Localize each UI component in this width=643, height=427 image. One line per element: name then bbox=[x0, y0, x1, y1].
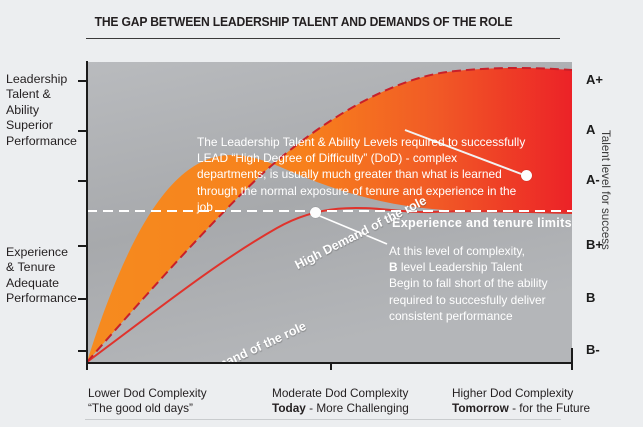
y-axis-label-superior: Leadership Talent & Ability Superior Per… bbox=[6, 72, 77, 149]
mid-line-1: At this level of complexity, bbox=[389, 244, 525, 258]
page-title: THE GAP BETWEEN LEADERSHIP TALENT AND DE… bbox=[85, 14, 522, 29]
mid-bold-grade: B bbox=[389, 260, 398, 274]
grade-label-a-minus: A- bbox=[586, 172, 600, 187]
mid-line-2: level Leadership Talent bbox=[398, 260, 523, 274]
tenure-limit-label: Experience and tenure limits bbox=[392, 216, 572, 230]
x-category-3-line1: Higher Dod Complexity bbox=[452, 386, 573, 400]
x-category-1-line1: Lower Dod Complexity bbox=[88, 386, 207, 400]
mid-line-4: required to succesfully deliver bbox=[389, 293, 546, 307]
x-category-3-bold: Tomorrow bbox=[452, 401, 509, 415]
x-tick-1 bbox=[86, 362, 88, 370]
y-tick-5 bbox=[78, 298, 87, 300]
y-axis-label-adequate: Experience & Tenure Adequate Performance bbox=[6, 245, 77, 307]
x-category-1: Lower Dod Complexity “The good old days” bbox=[88, 386, 207, 416]
y-axis-line bbox=[86, 61, 88, 363]
x-category-3: Higher Dod Complexity Tomorrow - for the… bbox=[452, 386, 590, 416]
grade-label-b-minus: B- bbox=[586, 342, 600, 357]
x-category-2-line2: - More Challenging bbox=[306, 401, 409, 415]
grade-label-a: A bbox=[586, 122, 595, 137]
top-description-text: The Leadership Talent & Ability Levels r… bbox=[197, 134, 527, 215]
chart-plot-area: The Leadership Talent & Ability Levels r… bbox=[87, 62, 572, 362]
mid-line-3: Begin to fall short of the ability bbox=[389, 276, 548, 290]
x-category-1-line2: “The good old days” bbox=[88, 401, 193, 415]
y-tick-6 bbox=[78, 350, 87, 352]
x-category-2-bold: Today bbox=[272, 401, 306, 415]
y-tick-4 bbox=[78, 245, 87, 247]
x-category-2-line1: Moderate Dod Complexity bbox=[272, 386, 408, 400]
grade-label-a-plus: A+ bbox=[586, 72, 603, 87]
title-divider bbox=[86, 38, 560, 39]
x-category-3-line2: - for the Future bbox=[509, 401, 590, 415]
grade-label-b: B bbox=[586, 290, 595, 305]
y-tick-3 bbox=[78, 180, 87, 182]
x-category-2: Moderate Dod Complexity Today - More Cha… bbox=[272, 386, 409, 416]
y-tick-1 bbox=[78, 80, 87, 82]
y-axis-right-stub bbox=[571, 348, 573, 363]
mid-line-5: consistent performance bbox=[389, 309, 513, 323]
y-axis-right-title: Talent level for success bbox=[599, 130, 612, 250]
x-tick-3 bbox=[571, 362, 573, 370]
y-tick-2 bbox=[78, 130, 87, 132]
bottom-divider bbox=[85, 419, 561, 420]
mid-description-text: At this level of complexity, B level Lea… bbox=[389, 243, 572, 324]
x-tick-2 bbox=[330, 362, 332, 370]
